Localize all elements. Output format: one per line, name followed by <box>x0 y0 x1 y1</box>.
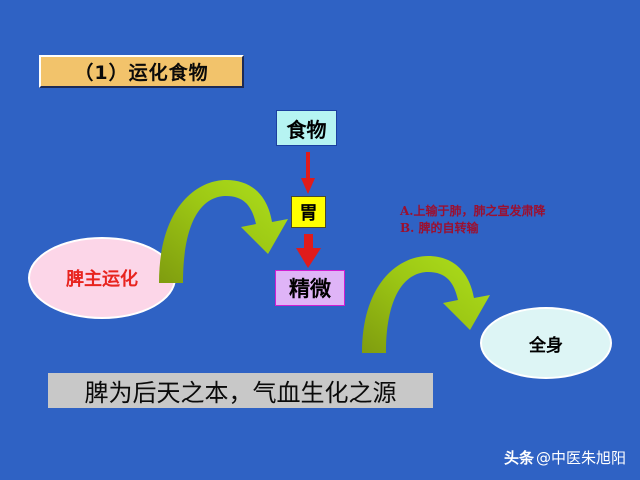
node-essence: 精微 <box>275 270 345 306</box>
node-whole-body-label: 全身 <box>529 331 563 356</box>
arrow-stomach-to-essence-icon <box>296 234 321 268</box>
note-line-a: A.上输于肺，肺之宣发肃降 <box>400 203 546 220</box>
node-food-label: 食物 <box>287 114 327 143</box>
page-title: （1）运化食物 <box>74 58 208 85</box>
node-essence-label: 精微 <box>289 273 331 303</box>
watermark: 头条 @中医朱旭阳 <box>504 447 626 468</box>
slide-title-plate: （1）运化食物 <box>39 55 244 88</box>
node-whole-body: 全身 <box>480 307 612 379</box>
node-stomach: 胃 <box>291 196 326 228</box>
summary-banner-text: 脾为后天之本，气血生化之源 <box>85 373 397 408</box>
node-food: 食物 <box>276 110 337 146</box>
arrow-food-to-stomach-icon <box>301 152 315 194</box>
node-spleen-label: 脾主运化 <box>66 265 138 291</box>
watermark-handle: @中医朱旭阳 <box>536 447 626 468</box>
arrow-essence-to-body-icon <box>362 256 490 353</box>
summary-banner: 脾为后天之本，气血生化之源 <box>48 373 433 408</box>
node-stomach-label: 胃 <box>300 199 318 225</box>
note-line-b: B. 脾的自转输 <box>400 220 546 237</box>
notes-block: A.上输于肺，肺之宣发肃降 B. 脾的自转输 <box>400 203 546 237</box>
slide-canvas: （1）运化食物 食物 胃 精微 脾主运化 全身 A.上输于肺，肺之宣发肃降 B.… <box>0 0 640 480</box>
watermark-brand: 头条 <box>504 447 534 468</box>
node-spleen: 脾主运化 <box>28 237 176 319</box>
arrow-spleen-to-stomach-icon <box>159 180 288 283</box>
